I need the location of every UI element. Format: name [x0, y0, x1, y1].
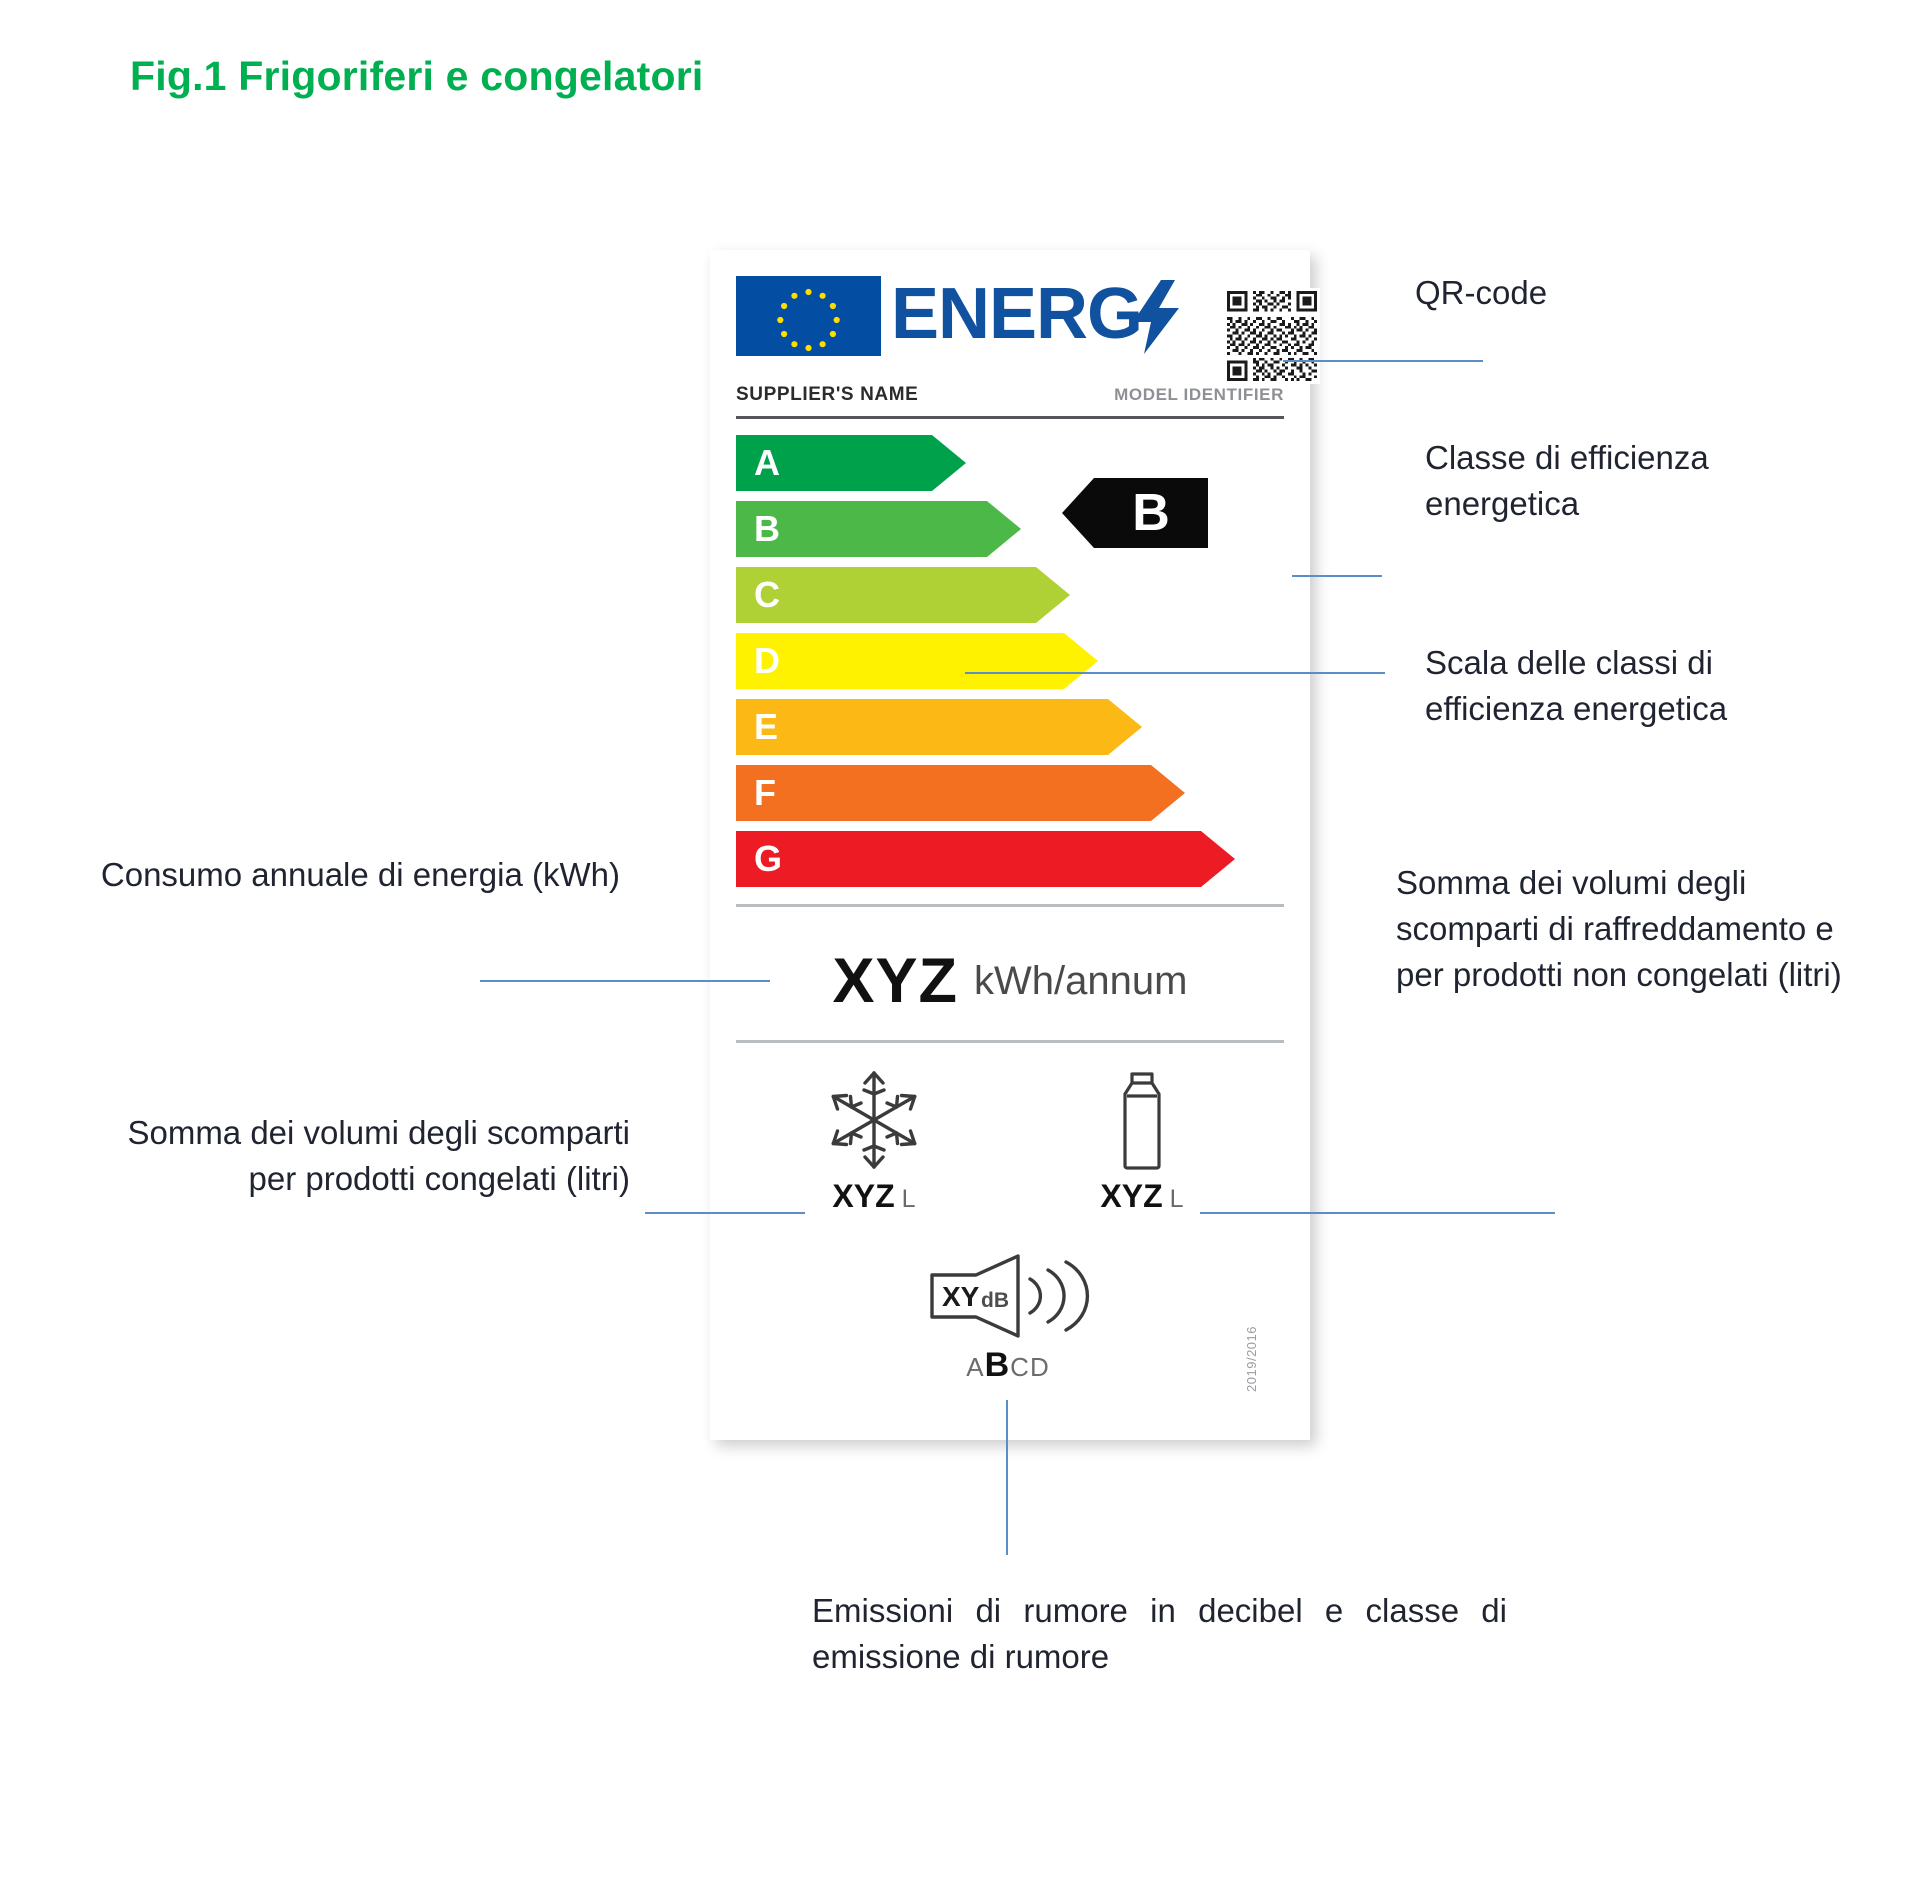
leader-efficiency-class — [1292, 575, 1382, 577]
eu-flag-icon — [736, 276, 881, 356]
leader-noise — [1006, 1400, 1008, 1555]
scale-bar-f: F — [736, 765, 1284, 821]
label-header: ENERG — [736, 274, 1284, 358]
divider-bottom — [736, 1040, 1284, 1043]
noise-class-d: D — [1030, 1352, 1050, 1382]
leader-efficiency-scale — [965, 672, 1385, 674]
speaker-icon: XY dB — [908, 1250, 1108, 1342]
divider-top — [736, 904, 1284, 907]
annotation-efficiency-class: Classe di efficienza energetica — [1425, 435, 1825, 527]
badge-arrow-icon — [1062, 478, 1094, 548]
lightning-bolt-icon — [1131, 280, 1181, 354]
leader-qr-code — [1283, 360, 1483, 362]
annual-energy-value: XYZ — [833, 945, 959, 1017]
leader-annual-consumption — [480, 980, 770, 982]
leader-frozen-volumes — [645, 1212, 805, 1214]
scale-bar-e: E — [736, 699, 1284, 755]
scale-bar-g: G — [736, 831, 1284, 887]
selected-class-letter: B — [1094, 478, 1208, 548]
scale-bar-letter: F — [754, 775, 776, 811]
eu-energy-label-card: ENERG — [710, 250, 1310, 1440]
annotation-chilled-volumes: Somma dei volumi degli scomparti di raff… — [1396, 860, 1846, 999]
bottle-icon — [1032, 1062, 1252, 1178]
scale-bar-letter: D — [754, 643, 780, 679]
chilled-volume-block: XYZL — [1032, 1062, 1252, 1215]
supplier-name-field: SUPPLIER'S NAME — [736, 384, 918, 406]
chilled-volume-unit: L — [1170, 1185, 1184, 1213]
scale-bar-letter: A — [754, 445, 780, 481]
snowflake-icon — [764, 1062, 984, 1178]
model-identifier-field: MODEL IDENTIFIER — [1114, 385, 1284, 405]
noise-block: XY dB ABCD — [908, 1250, 1108, 1385]
scale-bar-letter: B — [754, 511, 780, 547]
svg-text:dB: dB — [981, 1289, 1009, 1312]
annotation-noise: Emissioni di rumore in decibel e classe … — [812, 1588, 1507, 1680]
scale-bar-d: D — [736, 633, 1284, 689]
energy-wordmark: ENERG — [891, 272, 1142, 356]
regulation-code: 2019/2016 — [1244, 1326, 1259, 1392]
noise-class-a: A — [966, 1352, 984, 1382]
annotation-annual-consumption: Consumo annuale di energia (kWh) — [60, 852, 620, 898]
selected-class-badge: B — [1062, 478, 1208, 548]
scale-bar-c: C — [736, 567, 1284, 623]
annual-energy-row: XYZ kWh/annum — [736, 926, 1284, 1036]
scale-bar-letter: C — [754, 577, 780, 613]
annotation-qr-code: QR-code — [1415, 270, 1835, 316]
frozen-volume-value: XYZ — [832, 1178, 894, 1214]
noise-class-row: ABCD — [908, 1346, 1108, 1385]
frozen-volume-unit: L — [902, 1185, 916, 1213]
volumes-row: XYZL XYZL — [736, 1062, 1284, 1242]
svg-text:XY: XY — [942, 1281, 980, 1312]
scale-bar-letter: E — [754, 709, 778, 745]
leader-chilled-volumes — [1200, 1212, 1555, 1214]
page-title: Fig.1 Frigoriferi e congelatori — [130, 53, 703, 100]
annotation-frozen-volumes: Somma dei volumi degli scomparti per pro… — [120, 1110, 630, 1202]
qr-code-icon — [1224, 288, 1320, 384]
annotation-efficiency-scale: Scala delle classi di efficienza energet… — [1425, 640, 1825, 732]
supplier-model-row: SUPPLIER'S NAME MODEL IDENTIFIER — [736, 384, 1284, 419]
noise-class-c: C — [1010, 1352, 1030, 1382]
noise-class-b: B — [985, 1346, 1011, 1384]
frozen-volume-block: XYZL — [764, 1062, 984, 1215]
annual-energy-unit: kWh/annum — [974, 959, 1187, 1004]
scale-bar-letter: G — [754, 841, 782, 877]
chilled-volume-value: XYZ — [1100, 1178, 1162, 1214]
